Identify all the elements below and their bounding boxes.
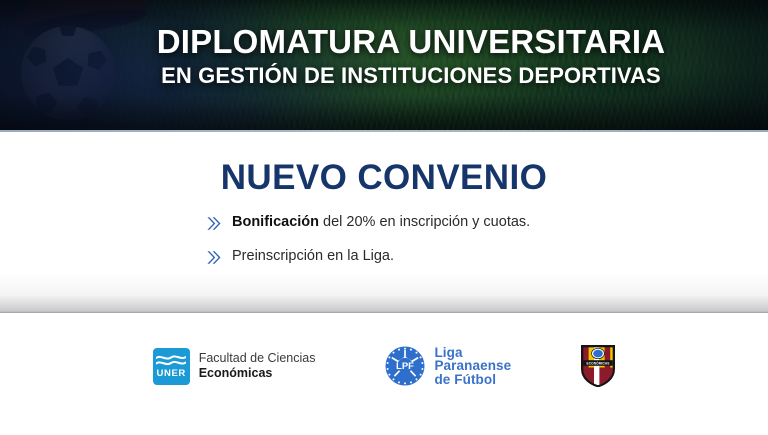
uner-label-line2: Económicas xyxy=(199,366,316,381)
logo-lpf: LPF Liga Paranaense de Fútbol xyxy=(385,346,511,387)
bullet-rest-2: Preinscripción en la Liga. xyxy=(232,248,394,264)
bullet-rest-1: del 20% en inscripción y cuotas. xyxy=(319,214,530,230)
uner-mark-icon: UNER xyxy=(153,348,190,385)
uner-wordmark: UNER xyxy=(157,369,186,379)
double-chevron-right-icon xyxy=(206,249,223,266)
footer-logo-strip: UNER Facultad de Ciencias Económicas xyxy=(0,313,768,419)
list-item: Bonificación del 20% en inscripción y cu… xyxy=(206,213,768,232)
lpf-ball-icon: LPF xyxy=(385,346,425,386)
lpf-label-line1: Liga xyxy=(434,346,511,360)
uner-label-line1: Facultad de Ciencias xyxy=(199,351,316,366)
list-item: Preinscripción en la Liga. xyxy=(206,247,768,266)
hero-banner: DIPLOMATURA UNIVERSITARIA EN GESTIÓN DE … xyxy=(0,0,768,132)
hero-title: DIPLOMATURA UNIVERSITARIA xyxy=(54,24,768,60)
list-item-text: Bonificación del 20% en inscripción y cu… xyxy=(232,213,530,231)
hero-text-block: DIPLOMATURA UNIVERSITARIA EN GESTIÓN DE … xyxy=(0,24,768,89)
club-shield-icon: ECONÓMICAS xyxy=(581,345,615,387)
promo-flyer: DIPLOMATURA UNIVERSITARIA EN GESTIÓN DE … xyxy=(0,0,768,419)
logo-club-shield: ECONÓMICAS xyxy=(581,345,615,387)
svg-text:ECONÓMICAS: ECONÓMICAS xyxy=(587,361,610,366)
offer-bullet-list: Bonificación del 20% en inscripción y cu… xyxy=(0,213,768,266)
uner-waves-icon xyxy=(156,354,186,368)
lpf-label-line2: Paranaense xyxy=(434,359,511,373)
double-chevron-right-icon xyxy=(206,215,223,232)
logo-uner: UNER Facultad de Ciencias Económicas xyxy=(153,348,316,385)
svg-text:LPF: LPF xyxy=(396,361,414,372)
list-item-text: Preinscripción en la Liga. xyxy=(232,247,394,265)
lpf-label-line3: de Fútbol xyxy=(434,373,511,387)
offer-title: NUEVO CONVENIO xyxy=(0,132,768,197)
bullet-strong-1: Bonificación xyxy=(232,214,319,230)
hero-subtitle: EN GESTIÓN DE INSTITUCIONES DEPORTIVAS xyxy=(54,63,768,89)
offer-section: NUEVO CONVENIO Bonificación del 20% en i… xyxy=(0,132,768,313)
